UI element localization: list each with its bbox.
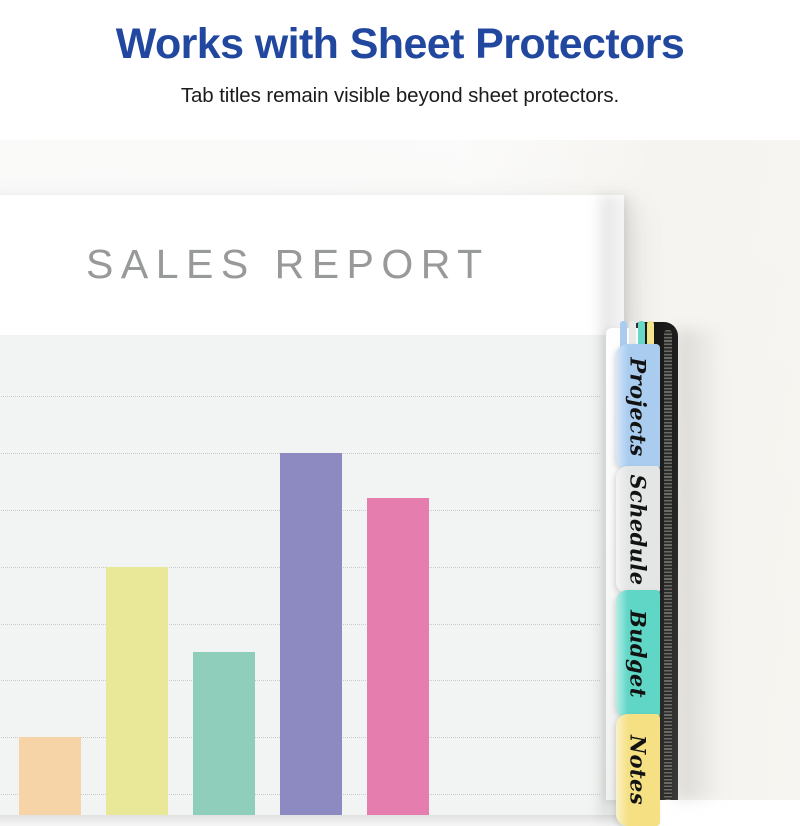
chart-bar xyxy=(280,453,342,815)
tab-label: Budget xyxy=(626,610,651,698)
headline: Works with Sheet Protectors xyxy=(0,20,800,68)
bar-chart-plot-area: 0,0000,0000,0000,0000,0000,0000,0000,000 xyxy=(0,335,624,815)
index-tab-budget[interactable]: Budget xyxy=(616,590,660,718)
index-tab-schedule[interactable]: Schedule xyxy=(616,466,660,594)
report-page: SALES REPORT 0,0000,0000,0000,0000,0000,… xyxy=(0,195,624,815)
index-tab-projects[interactable]: Projects xyxy=(616,344,660,470)
chart-bar xyxy=(106,567,168,815)
subheadline: Tab titles remain visible beyond sheet p… xyxy=(0,84,800,108)
binder-zipper-icon xyxy=(664,330,672,800)
index-tab-notes[interactable]: Notes xyxy=(616,714,660,826)
marketing-header: Works with Sheet Protectors Tab titles r… xyxy=(0,0,800,140)
gridline xyxy=(0,396,600,397)
chart-bar xyxy=(193,652,255,815)
zippered-binder: ProjectsScheduleBudgetNotes xyxy=(612,322,686,800)
tab-label: Notes xyxy=(626,735,651,805)
tab-label: Schedule xyxy=(626,474,651,585)
chart-bar xyxy=(19,737,81,815)
tab-label: Projects xyxy=(626,357,651,456)
report-title: SALES REPORT xyxy=(86,241,490,288)
chart-bar xyxy=(367,498,429,815)
report-page-header: SALES REPORT xyxy=(0,195,624,335)
